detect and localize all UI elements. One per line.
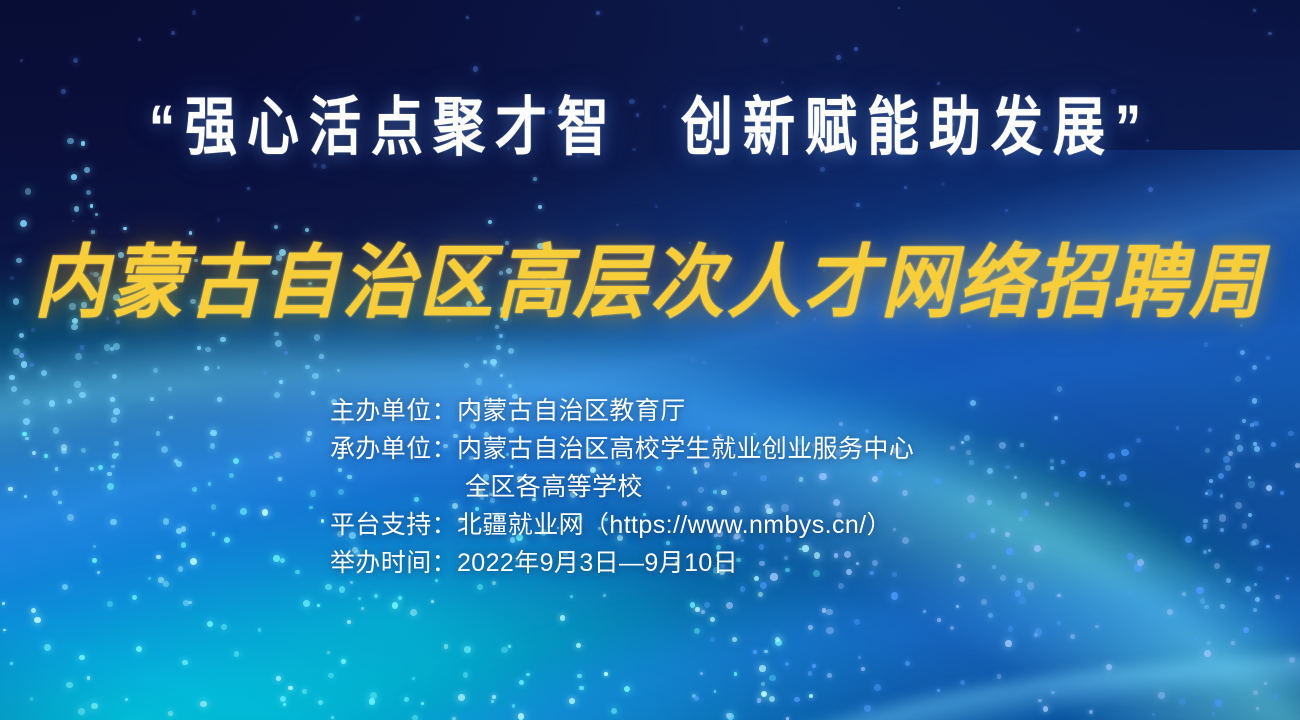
poster-content: “强心活点聚才智 创新赋能助发展” 内蒙古自治区高层次人才网络招聘周 主办单位：… <box>0 0 1300 720</box>
info-co-organizer-extra: 全区各高等学校 <box>330 468 1090 506</box>
poster-info-block: 主办单位：内蒙古自治区教育厅 承办单位：内蒙古自治区高校学生就业创业服务中心 全… <box>330 392 1090 582</box>
poster-slogan: “强心活点聚才智 创新赋能助发展” <box>0 88 1300 169</box>
info-event-date: 举办时间：2022年9月3日—9月10日 <box>330 544 1090 582</box>
info-co-organizer: 承办单位：内蒙古自治区高校学生就业创业服务中心 <box>330 430 1090 468</box>
poster-main-title: 内蒙古自治区高层次人才网络招聘周 <box>0 230 1300 336</box>
event-poster: “强心活点聚才智 创新赋能助发展” 内蒙古自治区高层次人才网络招聘周 主办单位：… <box>0 0 1300 720</box>
info-organizer: 主办单位：内蒙古自治区教育厅 <box>330 392 1090 430</box>
info-platform-support: 平台支持：北疆就业网（https://www.nmbys.cn/） <box>330 506 1090 544</box>
